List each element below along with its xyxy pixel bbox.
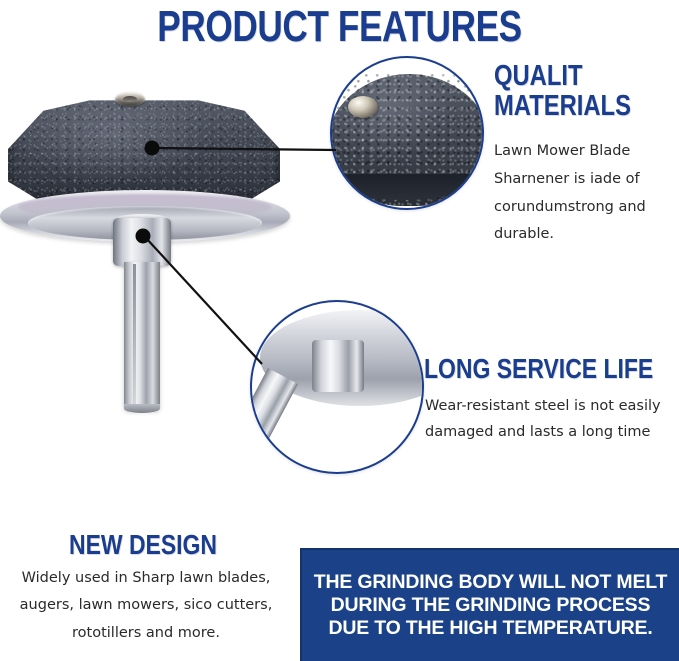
quality-heading-line-1: QUALIT [494,62,631,92]
highlight-banner: THE GRINDING BODY WILL NOT MELT DURING T… [300,548,679,661]
feature-body-new-design: Widely used in Sharp lawn blades, augers… [10,565,282,647]
product-features-infographic: PRODUCT FEATURES [0,0,679,661]
shaft-end [124,404,160,413]
feature-body-quality-materials: Lawn Mower Blade Sharnener is iade of co… [494,138,674,249]
stone-nut [115,92,145,106]
shaft-closeup-shaft [250,368,298,472]
feature-body-long-service-life: Wear-resistant steel is not easily damag… [425,394,675,446]
feature-heading-new-design: NEW DESIGN [69,531,217,560]
highlight-banner-text: THE GRINDING BODY WILL NOT MELT DURING T… [302,571,679,639]
callout-shaft-closeup [250,300,424,474]
shaft [124,262,160,410]
stone-closeup-body [330,74,484,206]
shaft-collar [113,218,171,266]
page-title: PRODUCT FEATURES [68,2,611,52]
feature-heading-long-service-life: LONG SERVICE LIFE [424,355,653,384]
shaft-closeup-collar [312,340,364,392]
callout-grinding-stone-closeup [330,56,484,210]
shaft-highlight [133,264,136,406]
feature-heading-quality-materials: QUALIT MATERIALS [494,62,631,121]
quality-heading-line-2: MATERIALS [494,92,631,122]
stone-closeup-nut [348,96,378,118]
